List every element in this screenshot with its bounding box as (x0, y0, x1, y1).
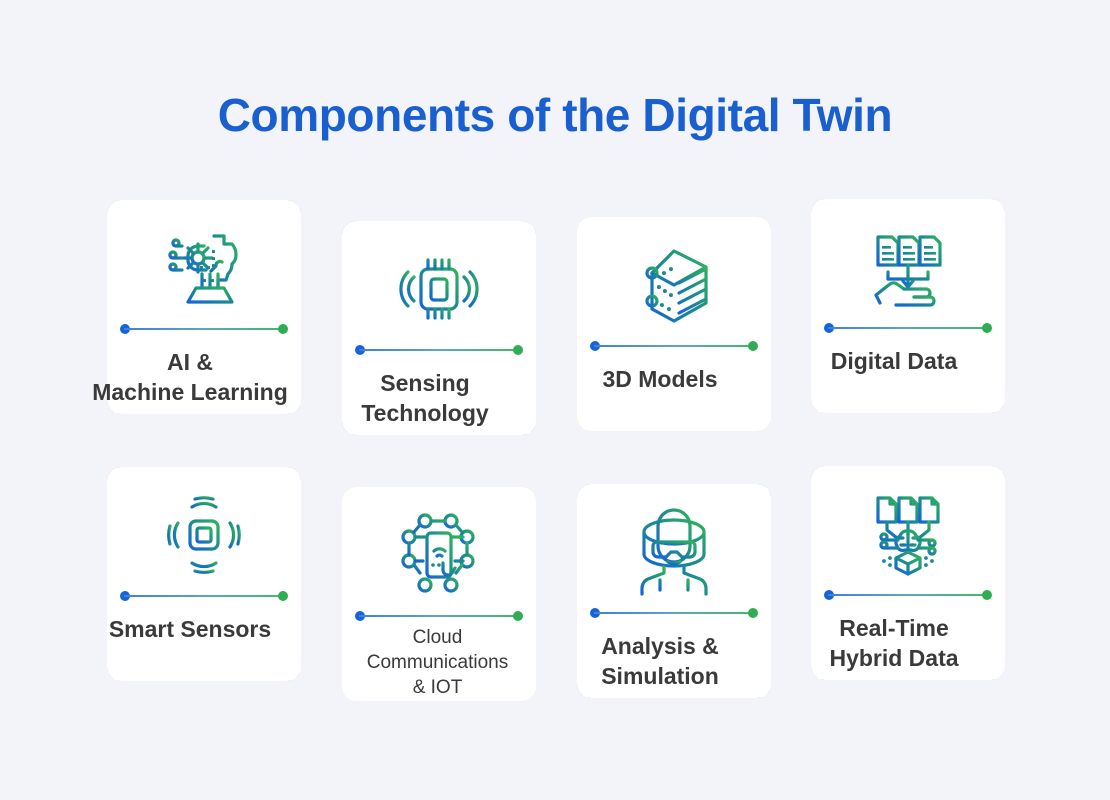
card-content: Smart Sensors (109, 469, 299, 679)
3d-cube-icon (622, 233, 726, 337)
card-cloud-communications-iot[interactable]: Cloud Communications & IOT (342, 487, 536, 701)
card-smart-sensors[interactable]: Smart Sensors (107, 467, 301, 681)
divider-line (828, 594, 988, 596)
card-label: AI & Machine Learning (65, 347, 315, 407)
divider-dot-right (748, 341, 758, 351)
card-analysis-simulation[interactable]: Analysis & Simulation (577, 484, 771, 698)
card-ai-machine-learning[interactable]: AI & Machine Learning (107, 200, 301, 414)
card-digital-data[interactable]: Digital Data (811, 199, 1005, 413)
card-content: Sensing Technology (344, 223, 534, 433)
divider-line (828, 327, 988, 329)
card-divider (824, 590, 992, 600)
documents-brain-cube-icon (856, 482, 960, 586)
divider-dot-right (278, 324, 288, 334)
infographic-canvas: Components of the Digital Twin (0, 0, 1110, 800)
card-content: 3D Models (579, 219, 769, 429)
card-divider (824, 323, 992, 333)
divider-dot-right (982, 323, 992, 333)
card-label: Analysis & Simulation (535, 631, 785, 691)
divider-line (124, 328, 284, 330)
divider-line (124, 595, 284, 597)
ai-brain-gear-icon (152, 216, 256, 320)
card-3d-models[interactable]: 3D Models (577, 217, 771, 431)
card-divider (120, 324, 288, 334)
card-divider (120, 591, 288, 601)
vr-headset-person-icon (622, 500, 726, 604)
card-sensing-technology[interactable]: Sensing Technology (342, 221, 536, 435)
card-label: Smart Sensors (65, 614, 315, 644)
divider-dot-right (513, 611, 523, 621)
divider-dot-right (513, 345, 523, 355)
card-real-time-hybrid-data[interactable]: Real-Time Hybrid Data (811, 466, 1005, 680)
card-content: Cloud Communications & IOT (344, 489, 534, 699)
card-label: Real-Time Hybrid Data (769, 613, 1019, 673)
divider-dot-right (982, 590, 992, 600)
card-divider (590, 341, 758, 351)
card-content: AI & Machine Learning (109, 202, 299, 412)
card-label: Cloud Communications & IOT (338, 625, 538, 700)
divider-dot-right (748, 608, 758, 618)
divider-dot-right (278, 591, 288, 601)
divider-line (594, 612, 754, 614)
page-title: Components of the Digital Twin (0, 88, 1110, 142)
divider-line (594, 345, 754, 347)
card-content: Real-Time Hybrid Data (813, 468, 1003, 678)
divider-line (359, 349, 519, 351)
network-smartphone-icon (387, 503, 491, 607)
card-label: Sensing Technology (300, 368, 550, 428)
card-content: Analysis & Simulation (579, 486, 769, 696)
card-content: Digital Data (813, 201, 1003, 411)
card-label: 3D Models (535, 364, 785, 394)
smart-sensor-waves-icon (152, 483, 256, 587)
divider-line (359, 615, 519, 617)
card-divider (355, 345, 523, 355)
microchip-signal-icon (387, 237, 491, 341)
documents-hand-icon (856, 215, 960, 319)
card-divider (590, 608, 758, 618)
card-label: Digital Data (769, 346, 1019, 376)
